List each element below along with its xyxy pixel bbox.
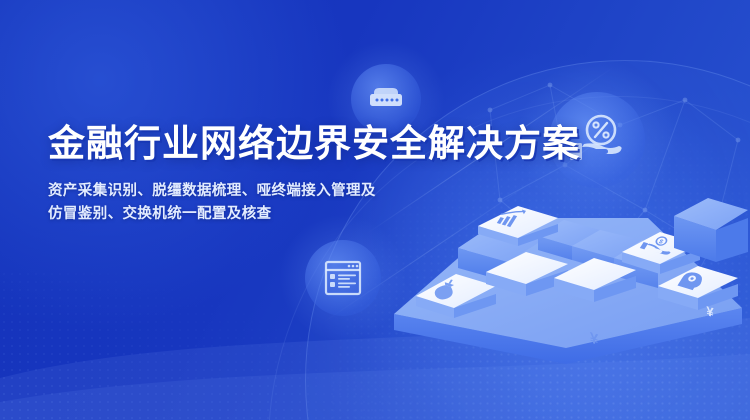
tile-yen-symbol: ¥	[590, 330, 599, 349]
document-list-icon	[323, 259, 363, 297]
router-icon	[366, 85, 406, 113]
page-title: 金融行业网络边界安全解决方案	[48, 122, 518, 166]
subtitle-line-2: 仿冒鉴别、交换机统一配置及核查	[48, 203, 518, 226]
cube-yen-symbol: ¥	[706, 303, 714, 320]
headline-block: 金融行业网络边界安全解决方案 资产采集识别、脱缰数据梳理、哑终端接入管理及 仿冒…	[48, 122, 518, 226]
page-subtitle: 资产采集识别、脱缰数据梳理、哑终端接入管理及 仿冒鉴别、交换机统一配置及核查	[48, 180, 518, 226]
subtitle-line-1: 资产采集识别、脱缰数据梳理、哑终端接入管理及	[48, 180, 518, 203]
orb-document[interactable]	[305, 240, 381, 316]
banner-root: ¥ $	[0, 0, 750, 420]
